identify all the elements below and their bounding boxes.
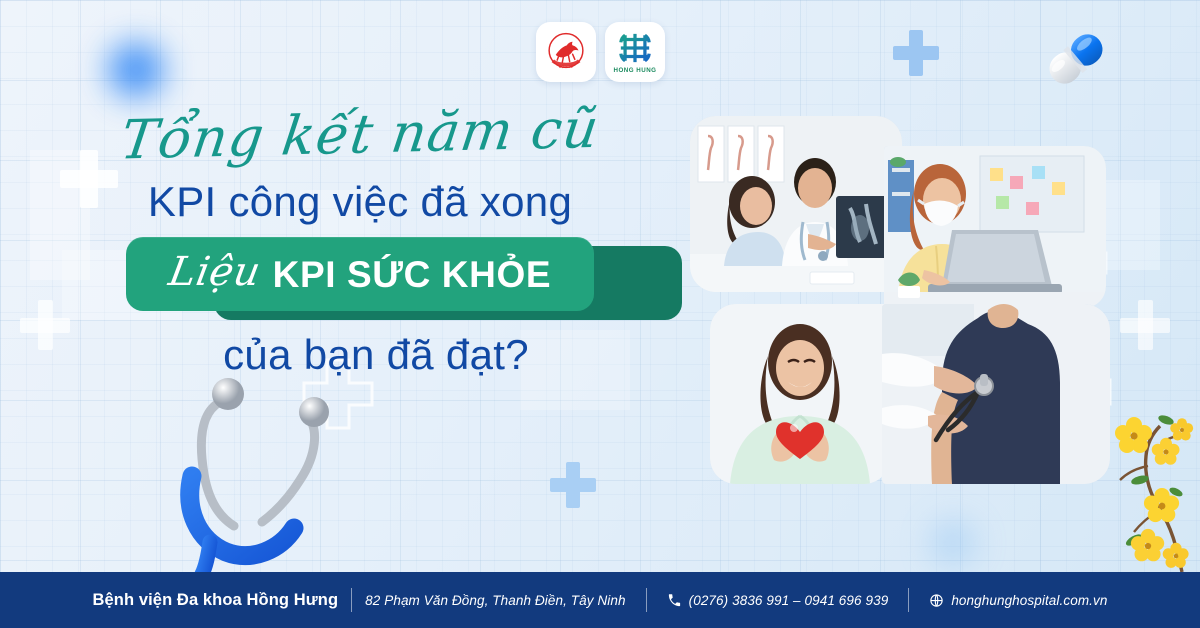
footer-divider xyxy=(646,588,647,612)
headline-script-line: Tổng kết năm cũ xyxy=(0,100,695,171)
headline-line-2: KPI công việc đã xong xyxy=(0,178,690,225)
headline-block: Tổng kết năm cũ KPI công việc đã xong Li… xyxy=(0,108,690,378)
footer-website-item[interactable]: honghunghospital.com.vn xyxy=(929,593,1107,608)
footer-address: 82 Phạm Văn Đồng, Thanh Điền, Tây Ninh xyxy=(365,593,625,608)
photo-1-illustration xyxy=(690,116,902,292)
footer-website: honghunghospital.com.vn xyxy=(951,593,1107,608)
pill-bold-text: KPI SỨC KHỎE xyxy=(273,256,551,293)
photo-collage xyxy=(676,108,1136,498)
medical-cross-icon xyxy=(550,462,596,508)
footer-phone: (0276) 3836 991 – 0941 696 939 xyxy=(689,593,889,608)
photo-doctor-using-stethoscope-on-patient xyxy=(882,304,1110,484)
headline-pill-wrap: Liệu KPI SỨC KHỎE xyxy=(0,237,690,311)
photo-3-illustration xyxy=(710,304,890,484)
ministry-of-health-emblem-icon: BỘ Y TẾ xyxy=(544,30,588,74)
globe-icon xyxy=(929,593,944,608)
svg-text:BỘ Y TẾ: BỘ Y TẾ xyxy=(559,64,574,69)
photo-2-illustration xyxy=(884,146,1106,308)
promo-banner: BỘ Y TẾ HONG HUNG Tổng kết năm cũ KP xyxy=(0,0,1200,628)
footer-bar: Bệnh viện Đa khoa Hồng Hưng 82 Phạm Văn … xyxy=(0,572,1200,628)
logo-tile-ministry[interactable]: BỘ Y TẾ xyxy=(536,22,596,82)
headline-line-4: của bạn đã đạt? xyxy=(0,331,690,378)
hong-hung-hospital-logo-icon xyxy=(618,31,652,65)
medical-cross-icon xyxy=(893,30,939,76)
decor-blur-dot xyxy=(108,42,164,98)
footer-divider xyxy=(908,588,909,612)
logo-tile-hong-hung[interactable]: HONG HUNG xyxy=(605,22,665,82)
capsule-pill-graphic-icon xyxy=(1034,22,1118,96)
photo-4-illustration xyxy=(882,304,1110,484)
footer-hospital-name: Bệnh viện Đa khoa Hồng Hưng xyxy=(93,591,339,610)
phone-icon xyxy=(667,593,682,608)
footer-phone-item[interactable]: (0276) 3836 991 – 0941 696 939 xyxy=(667,593,889,608)
decor-blur-dot xyxy=(930,520,976,566)
photo-woman-with-mask-working-on-laptop xyxy=(884,146,1106,308)
pill-script-text: Liệu xyxy=(165,252,264,297)
photo-woman-holding-red-heart xyxy=(710,304,890,484)
logo-row: BỘ Y TẾ HONG HUNG xyxy=(536,22,665,82)
photo-doctor-reviewing-xray-with-patient xyxy=(690,116,902,292)
logo-caption-hong-hung: HONG HUNG xyxy=(614,67,657,74)
stethoscope-graphic-icon xyxy=(148,352,378,582)
headline-pill: Liệu KPI SỨC KHỎE xyxy=(126,237,594,311)
footer-divider xyxy=(351,588,352,612)
